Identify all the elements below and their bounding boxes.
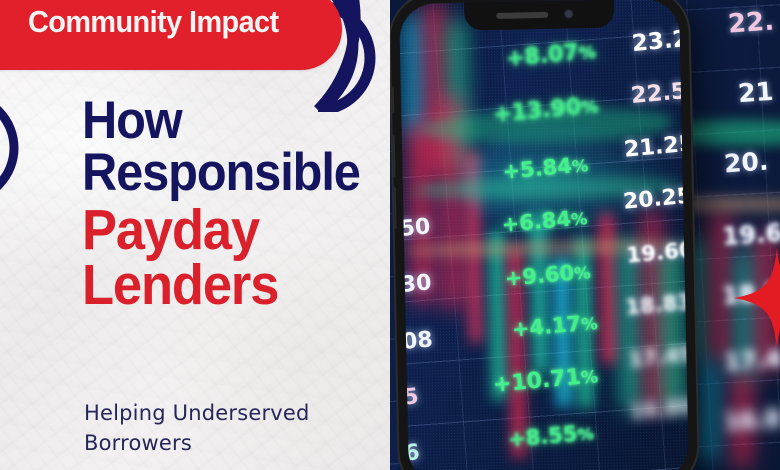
- background-price-label: 19.6: [721, 218, 780, 251]
- sparkle-icon: [734, 248, 780, 348]
- edge-price-label: 50: [399, 214, 431, 242]
- price-label: 23.2: [631, 26, 689, 57]
- background-price-label: 16.8: [723, 406, 780, 436]
- background-price-label: 17.4: [723, 344, 780, 376]
- speaker-grille-icon: [496, 12, 548, 19]
- edge-price-label: 08: [401, 327, 434, 355]
- subheadline: Helping Underserved Borrowers: [84, 398, 384, 459]
- candle-bar: [702, 360, 716, 460]
- price-label: 22.5: [630, 78, 688, 109]
- background-price-label: 20.: [723, 146, 769, 178]
- phone-notch: [464, 0, 615, 31]
- phone-screen[interactable]: +8.07%+13.90%+5.84%+6.84%+9.60%+4.17%+10…: [399, 0, 689, 470]
- stock-market-photo: 22.2120.19.618.817.416.8: [390, 0, 780, 470]
- poster-canvas: Community Impact How Responsible Payday …: [0, 0, 780, 470]
- headline-line-2: Responsible: [82, 148, 376, 198]
- banner-label: Community Impact: [28, 2, 307, 42]
- edge-price-label: 5: [402, 384, 420, 410]
- left-text-panel: Community Impact How Responsible Payday …: [0, 0, 420, 470]
- edge-price-label: 30: [400, 270, 433, 298]
- background-price-label: 22.: [727, 6, 775, 39]
- background-price-label: 21: [737, 77, 775, 109]
- wifi-arcs-icon: [0, 88, 82, 223]
- subheadline-line-2: Borrowers: [84, 428, 384, 458]
- headline-line-1: How: [82, 96, 376, 146]
- headline-line-4: Lenders: [82, 259, 376, 313]
- front-camera-icon: [564, 9, 573, 18]
- headline-block: How Responsible Payday Lenders: [82, 96, 402, 313]
- smartphone-device: +8.07%+13.90%+5.84%+6.84%+9.60%+4.17%+10…: [390, 0, 698, 470]
- candle-bar: [662, 248, 681, 408]
- subheadline-line-1: Helping Underserved: [84, 398, 384, 428]
- edge-price-label: 6: [403, 440, 421, 466]
- community-impact-banner: Community Impact: [0, 0, 342, 70]
- headline-line-3: Payday: [82, 204, 376, 258]
